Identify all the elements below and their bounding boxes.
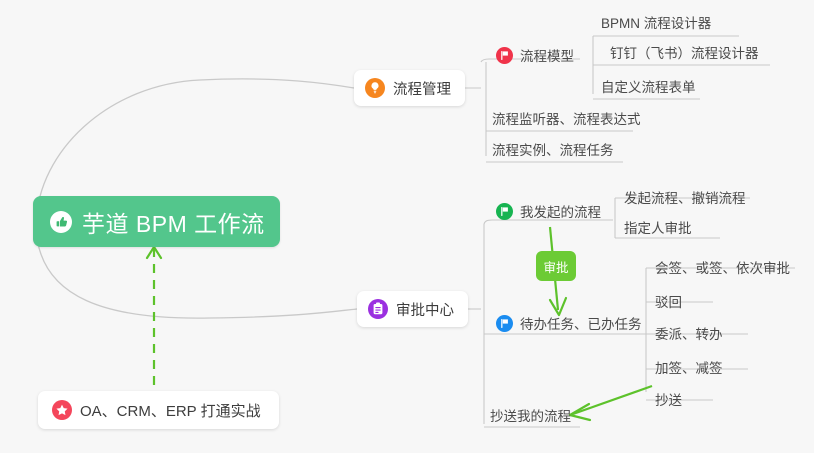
leaf-process-instance-task[interactable]: 流程实例、流程任务 [492, 138, 614, 160]
thumbs-up-icon [50, 211, 72, 233]
approval-badge-label: 审批 [543, 257, 568, 276]
leaf-dingtalk-feishu-designer[interactable]: 钉钉（飞书）流程设计器 [610, 41, 759, 63]
leaf-label-start-cancel-process: 发起流程、撤销流程 [624, 187, 746, 208]
leaf-label-add-remove-sign: 加签、减签 [655, 357, 723, 378]
leaf-label-process-instance-task: 流程实例、流程任务 [492, 139, 614, 160]
leaf-label-bpmn-designer: BPMN 流程设计器 [601, 12, 711, 33]
flag-icon [496, 203, 513, 220]
lightbulb-icon [365, 78, 385, 98]
leaf-todo-done-tasks[interactable]: 待办任务、已办任务 [496, 312, 642, 334]
root-label: 芋道 BPM 工作流 [82, 205, 265, 239]
branch-node-approval-center[interactable]: 审批中心 [357, 291, 468, 327]
arrow-cc-to-cc-to-me-head [570, 404, 590, 420]
leaf-reject[interactable]: 驳回 [655, 290, 682, 312]
leaf-countersign-or-sequential[interactable]: 会签、或签、依次审批 [655, 256, 790, 278]
floating-label-oa-crm-erp: OA、CRM、ERP 打通实战 [80, 400, 261, 421]
leaf-label-custom-process-form: 自定义流程表单 [601, 76, 696, 97]
leaf-custom-process-form[interactable]: 自定义流程表单 [601, 75, 696, 97]
branch-label-process-management: 流程管理 [393, 78, 451, 99]
root-node[interactable]: 芋道 BPM 工作流 [33, 196, 280, 247]
leaf-label-todo-done-tasks: 待办任务、已办任务 [520, 313, 642, 334]
leaf-label-assignee-approval: 指定人审批 [624, 217, 692, 238]
leaf-bpmn-designer[interactable]: BPMN 流程设计器 [601, 11, 711, 33]
leaf-cc[interactable]: 抄送 [655, 388, 682, 410]
flag-icon [496, 47, 513, 64]
approval-badge[interactable]: 审批 [536, 251, 576, 281]
leaf-assignee-approval[interactable]: 指定人审批 [624, 216, 692, 238]
arrow-cc-to-cc-to-me [573, 386, 652, 414]
arrow-oa-to-root-head [147, 247, 161, 258]
leaf-label-cc-to-me-process: 抄送我的流程 [490, 405, 571, 426]
branch-label-approval-center: 审批中心 [396, 299, 454, 320]
clipboard-icon [368, 299, 388, 319]
leaf-process-listener-expression[interactable]: 流程监听器、流程表达式 [492, 107, 641, 129]
leaf-label-process-model: 流程模型 [520, 45, 574, 66]
flag-icon [496, 315, 513, 332]
leaf-start-cancel-process[interactable]: 发起流程、撤销流程 [624, 186, 746, 208]
leaf-cc-to-me-process[interactable]: 抄送我的流程 [490, 404, 571, 426]
branch-node-process-management[interactable]: 流程管理 [354, 70, 465, 106]
leaf-label-cc: 抄送 [655, 389, 682, 410]
star-icon [52, 400, 72, 420]
leaf-process-model[interactable]: 流程模型 [496, 44, 574, 66]
leaf-label-dingtalk-feishu-designer: 钉钉（飞书）流程设计器 [610, 42, 759, 63]
leaf-delegate-transfer[interactable]: 委派、转办 [655, 322, 723, 344]
leaf-label-delegate-transfer: 委派、转办 [655, 323, 723, 344]
leaf-my-initiated-process[interactable]: 我发起的流程 [496, 200, 601, 222]
leaf-label-process-listener-expression: 流程监听器、流程表达式 [492, 108, 641, 129]
leaf-label-reject: 驳回 [655, 291, 682, 312]
floating-node-oa-crm-erp[interactable]: OA、CRM、ERP 打通实战 [38, 391, 279, 429]
leaf-label-countersign-or-sequential: 会签、或签、依次审批 [655, 257, 790, 278]
mindmap-canvas: 芋道 BPM 工作流 流程管理 流程模型 BPMN 流程设计器 钉钉（飞书 [0, 0, 814, 453]
leaf-label-my-initiated-process: 我发起的流程 [520, 201, 601, 222]
leaf-add-remove-sign[interactable]: 加签、减签 [655, 356, 723, 378]
